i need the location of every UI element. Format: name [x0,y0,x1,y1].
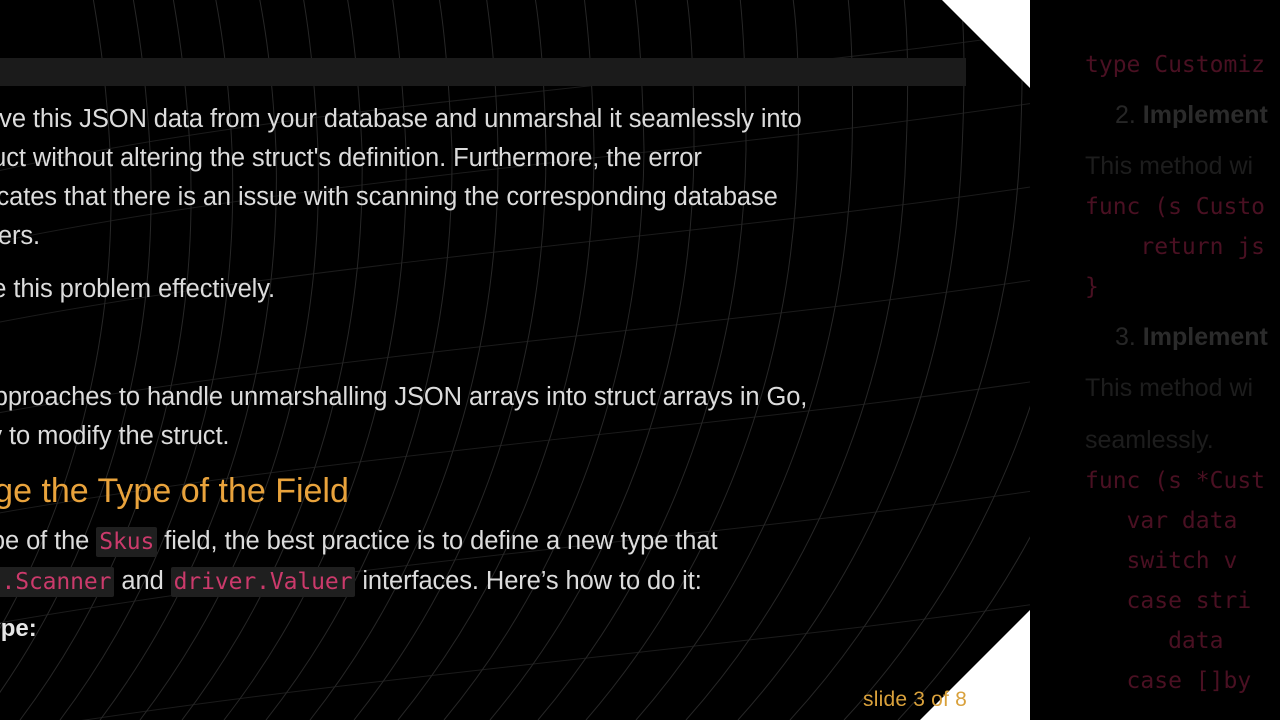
preview-code-line: var data [1085,504,1280,538]
approaches-line-2: our ability to modify the struct. [0,422,229,450]
current-slide[interactable]: s to retrieve this JSON data from your d… [0,0,1030,720]
paragraph-intro: s to retrieve this JSON data from your d… [0,100,1030,256]
paragraph-best-practice: ge the type of the Skus field, the best … [0,522,1030,602]
code-block-band [0,58,966,86]
inline-code-driver-valuer: driver.Valuer [171,567,356,597]
preview-code-line: case stri [1085,584,1280,618]
preview-heading-number: 2. [1115,101,1143,129]
preview-heading: 2. Implement [1115,98,1280,132]
corner-fold-top-right-icon [942,0,1030,88]
bp-mid-3: and [114,567,170,595]
preview-paragraph: This method wi [1085,148,1280,184]
preview-code-line: case []by [1085,664,1280,698]
approaches-line-1: ossible approaches to handle unmarshalli… [0,383,807,411]
inline-code-sql-scanner: sql.Scanner [0,567,114,597]
preview-heading-number: 3. [1115,323,1143,351]
bp-suffix: interfaces. Here’s how to do it: [355,567,701,595]
next-slide-lines: type Customiz2. ImplementThis method wif… [1085,48,1280,698]
preview-paragraph: seamlessly. [1085,422,1280,458]
preview-paragraph: This method wi [1085,370,1280,406]
preview-code-line: data [1085,624,1280,658]
preview-heading-text: Implement [1143,101,1268,129]
intro-line-2: f your struct without altering the struc… [0,144,702,172]
preview-code-line: return js [1085,230,1280,264]
intro-line-4: e of pointers. [0,222,40,250]
bp-prefix: ge the type of the [0,527,96,555]
paragraph-define-slice-type: w slice type: [0,615,37,643]
preview-code-line: switch v [1085,544,1280,578]
heading-option-1: : Change the Type of the Field [0,470,349,512]
preview-code-line: } [1085,270,1280,304]
paragraph-howto: w to solve this problem effectively. [0,270,1030,309]
inline-code-skus: Skus [96,527,157,557]
bp-mid-1: field, the best practice is to define a … [157,527,717,555]
preview-code-line: func (s Custo [1085,190,1280,224]
preview-code-line: type Customiz [1085,48,1280,82]
intro-line-3: ering indicates that there is an issue w… [0,183,778,211]
paragraph-approaches: ossible approaches to handle unmarshalli… [0,378,1030,456]
preview-heading-text: Implement [1143,323,1268,351]
preview-heading: 3. Implement [1115,320,1280,354]
preview-code-line: func (s *Cust [1085,464,1280,498]
next-slide-preview[interactable]: type Customiz2. ImplementThis method wif… [1030,0,1280,720]
slide-counter: slide 3 of 8 [863,688,967,712]
intro-line-1: s to retrieve this JSON data from your d… [0,105,802,133]
presentation-viewer: s to retrieve this JSON data from your d… [0,0,1280,720]
